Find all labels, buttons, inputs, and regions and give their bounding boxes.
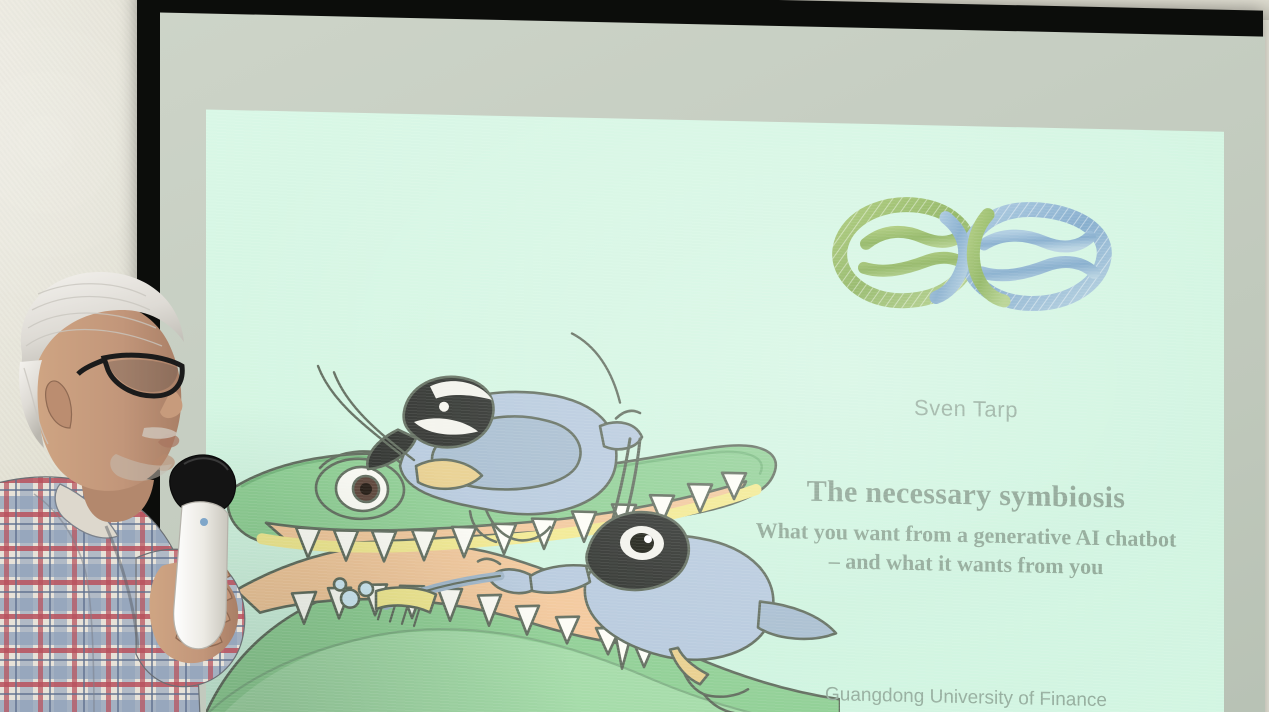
projected-slide: Sven Tarp The necessary symbiosis What y… <box>206 110 1224 712</box>
presenter <box>0 258 286 712</box>
presentation-photo-scene: Sven Tarp The necessary symbiosis What y… <box>0 0 1269 712</box>
slide-text-block: Sven Tarp The necessary symbiosis What y… <box>726 391 1206 584</box>
projection-screen-surface: Sven Tarp The necessary symbiosis What y… <box>160 13 1265 712</box>
projection-screen-frame: Sven Tarp The necessary symbiosis What y… <box>137 0 1263 712</box>
slide-venue-block: Guangdong University of Finance 16 April… <box>726 679 1206 712</box>
microphone-led <box>200 518 208 526</box>
slide-title: The necessary symbiosis <box>726 473 1206 517</box>
interlocking-rope-loops-logo <box>818 181 1148 323</box>
slide-author: Sven Tarp <box>726 391 1206 427</box>
handheld-microphone <box>170 455 236 649</box>
